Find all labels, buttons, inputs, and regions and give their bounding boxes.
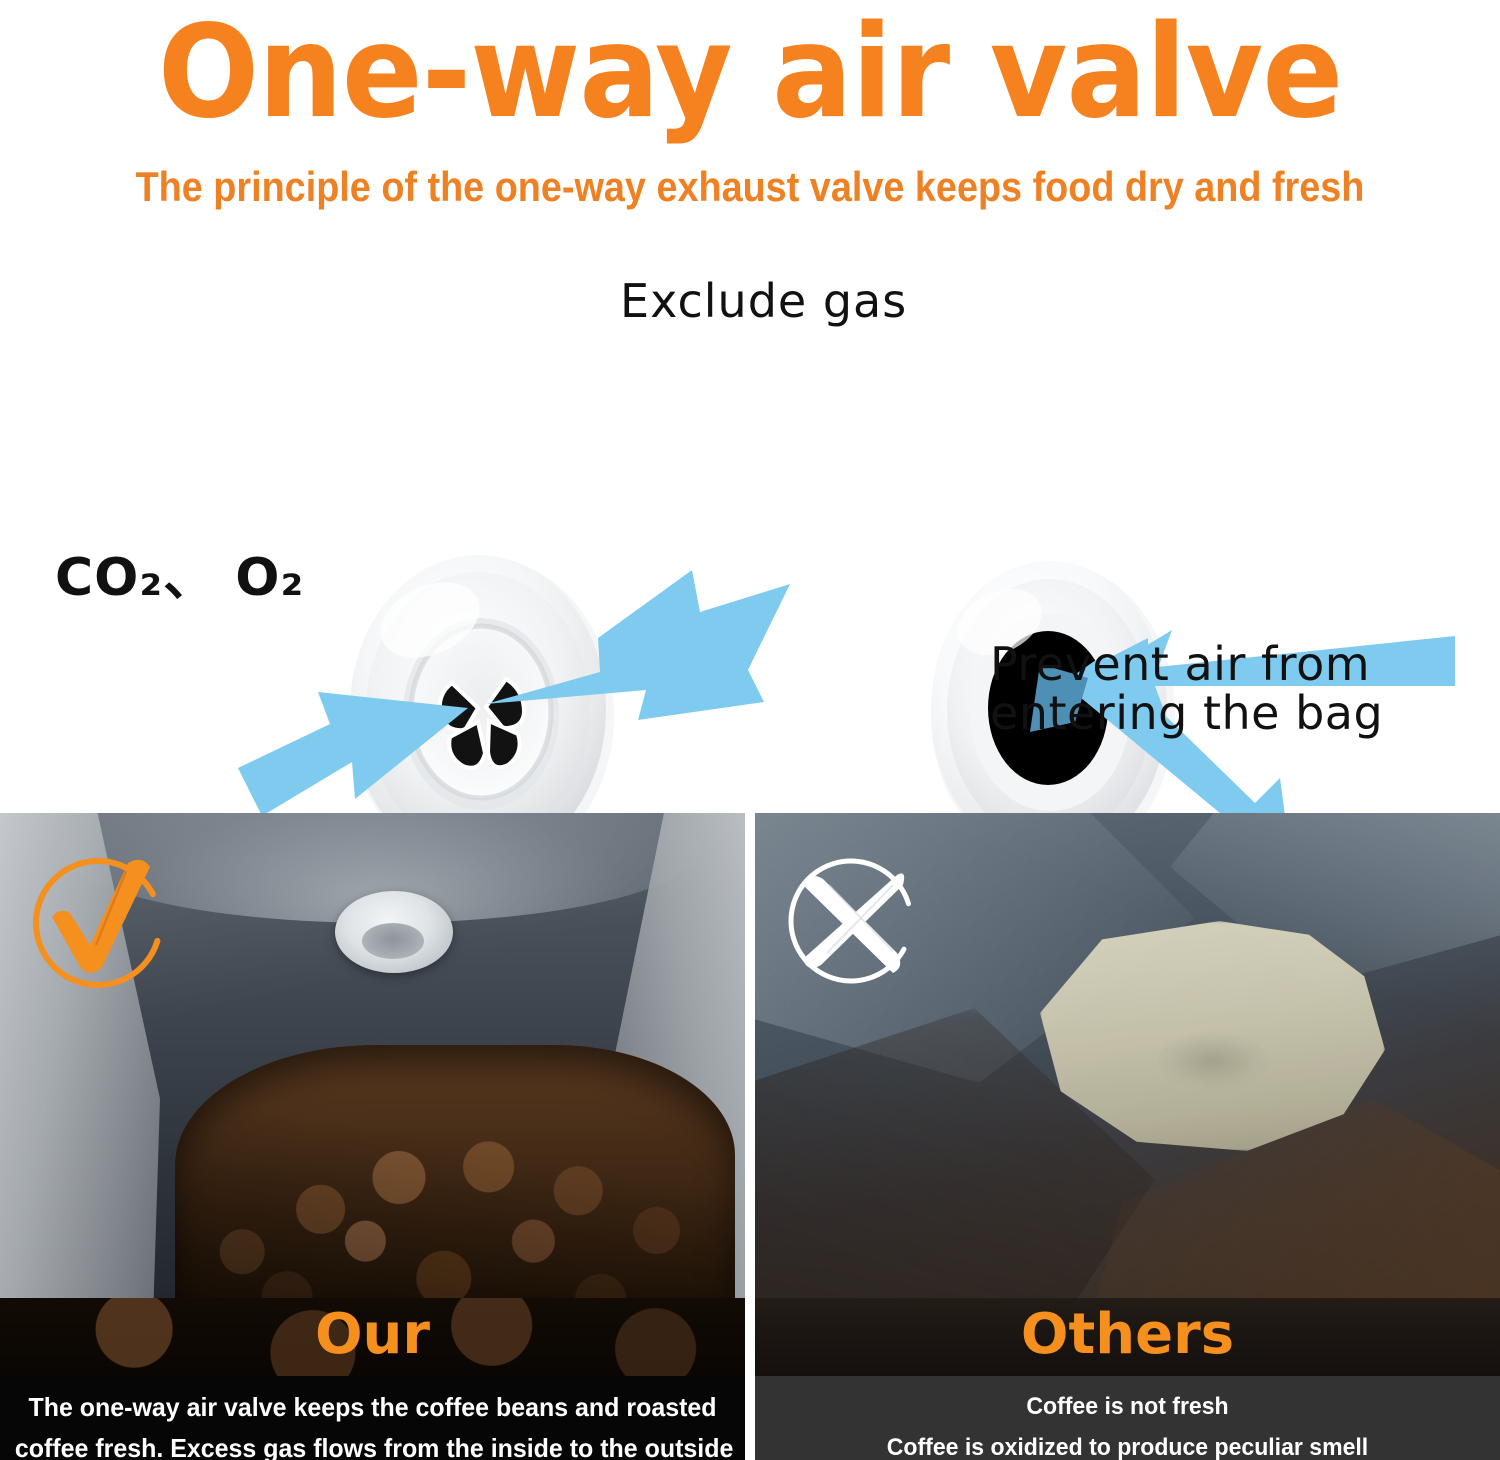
label-band-others: Others [755, 1298, 1500, 1376]
check-mark-brush-icon [18, 841, 178, 1001]
photo-our-coffee-bag [0, 813, 745, 1298]
caption-others: Coffee is not fresh Coffee is oxidized t… [755, 1376, 1500, 1460]
page-subtitle: The principle of the one-way exhaust val… [75, 163, 1425, 211]
photo-others-coffee-bag [755, 813, 1500, 1298]
comparison-section: Our The one-way air valve keeps the coff… [0, 813, 1500, 1460]
caption-others-line-1: Coffee is not fresh [770, 1376, 1485, 1427]
infographic-page: One-way air valve The principle of the o… [0, 0, 1500, 1460]
header: One-way air valve The principle of the o… [0, 0, 1500, 240]
bag-one-way-valve [335, 891, 453, 973]
caption-our: The one-way air valve keeps the coffee b… [0, 1376, 745, 1460]
panel-our: Our The one-way air valve keeps the coff… [0, 813, 745, 1460]
caption-others-line-2: Coffee is oxidized to produce peculiar s… [770, 1427, 1485, 1460]
label-band-our: Our [0, 1298, 745, 1376]
valve-principle-diagram: Exclude gas CO₂、 O₂ Prevent air fromente… [0, 240, 1500, 813]
oxidized-valve-patch [1040, 921, 1385, 1151]
label-prevent-line1: Prevent air from [990, 637, 1370, 691]
panel-label-our: Our [0, 1302, 745, 1367]
label-prevent-air: Prevent air fromentering the bag [990, 640, 1383, 738]
label-gases-in: CO₂、 O₂ [55, 535, 304, 610]
cross-mark-brush-icon [773, 841, 933, 1001]
caption-our-line-1: The one-way air valve keeps the coffee b… [15, 1376, 730, 1428]
label-exclude-gas: Exclude gas [620, 274, 907, 328]
label-prevent-line2: entering the bag [990, 686, 1383, 740]
caption-our-line-2: coffee fresh. Excess gas flows from the … [15, 1428, 730, 1460]
panel-label-others: Others [755, 1302, 1500, 1367]
panel-others: Others Coffee is not fresh Coffee is oxi… [755, 813, 1500, 1460]
page-title: One-way air valve [53, 6, 1448, 140]
beans-shading [175, 1045, 735, 1298]
